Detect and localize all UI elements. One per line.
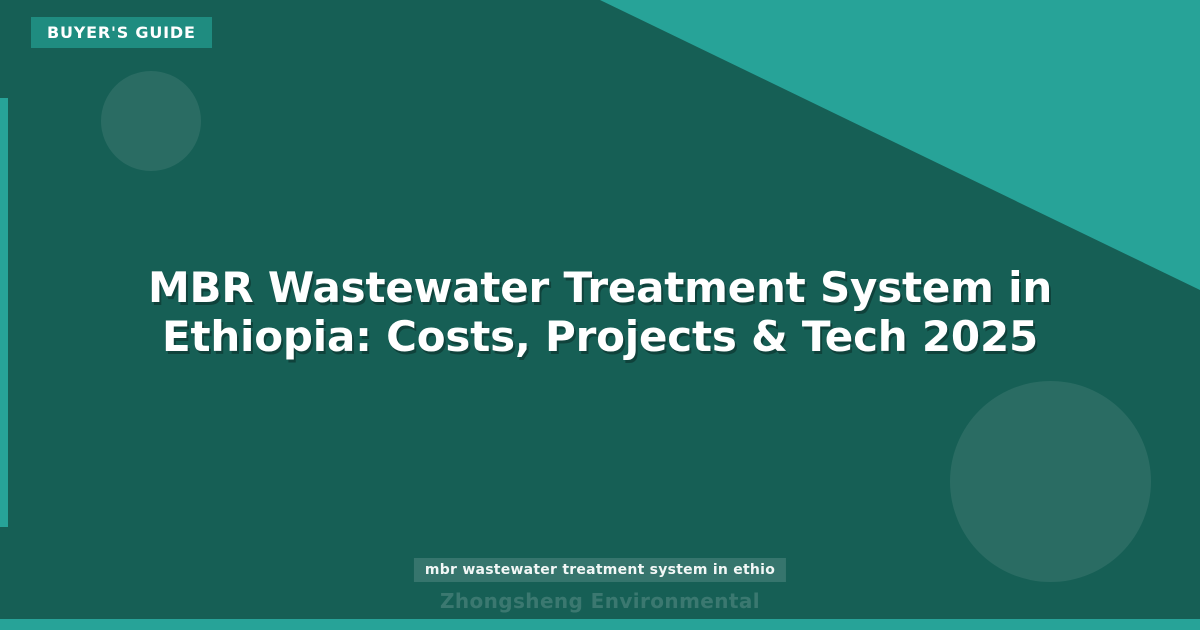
- page-title: MBR Wastewater Treatment System in Ethio…: [60, 264, 1140, 361]
- bottom-accent-strip: [0, 619, 1200, 630]
- badge-label: BUYER'S GUIDE: [47, 25, 196, 41]
- left-accent-bar: [0, 98, 8, 527]
- page-title-line-2: Ethiopia: Costs, Projects & Tech 2025: [60, 313, 1140, 362]
- keyword-chip-label: mbr wastewater treatment system in ethio: [425, 563, 775, 577]
- buyers-guide-badge: BUYER'S GUIDE: [31, 17, 212, 48]
- circle-decoration-top-left: [101, 71, 201, 171]
- circle-decoration-bottom-right: [950, 381, 1151, 582]
- brand-watermark: Zhongsheng Environmental: [0, 591, 1200, 611]
- brand-name: Zhongsheng Environmental: [440, 589, 760, 613]
- keyword-chip: mbr wastewater treatment system in ethio: [414, 558, 786, 582]
- page-title-line-1: MBR Wastewater Treatment System in: [60, 264, 1140, 313]
- banner-canvas: BUYER'S GUIDE MBR Wastewater Treatment S…: [0, 0, 1200, 630]
